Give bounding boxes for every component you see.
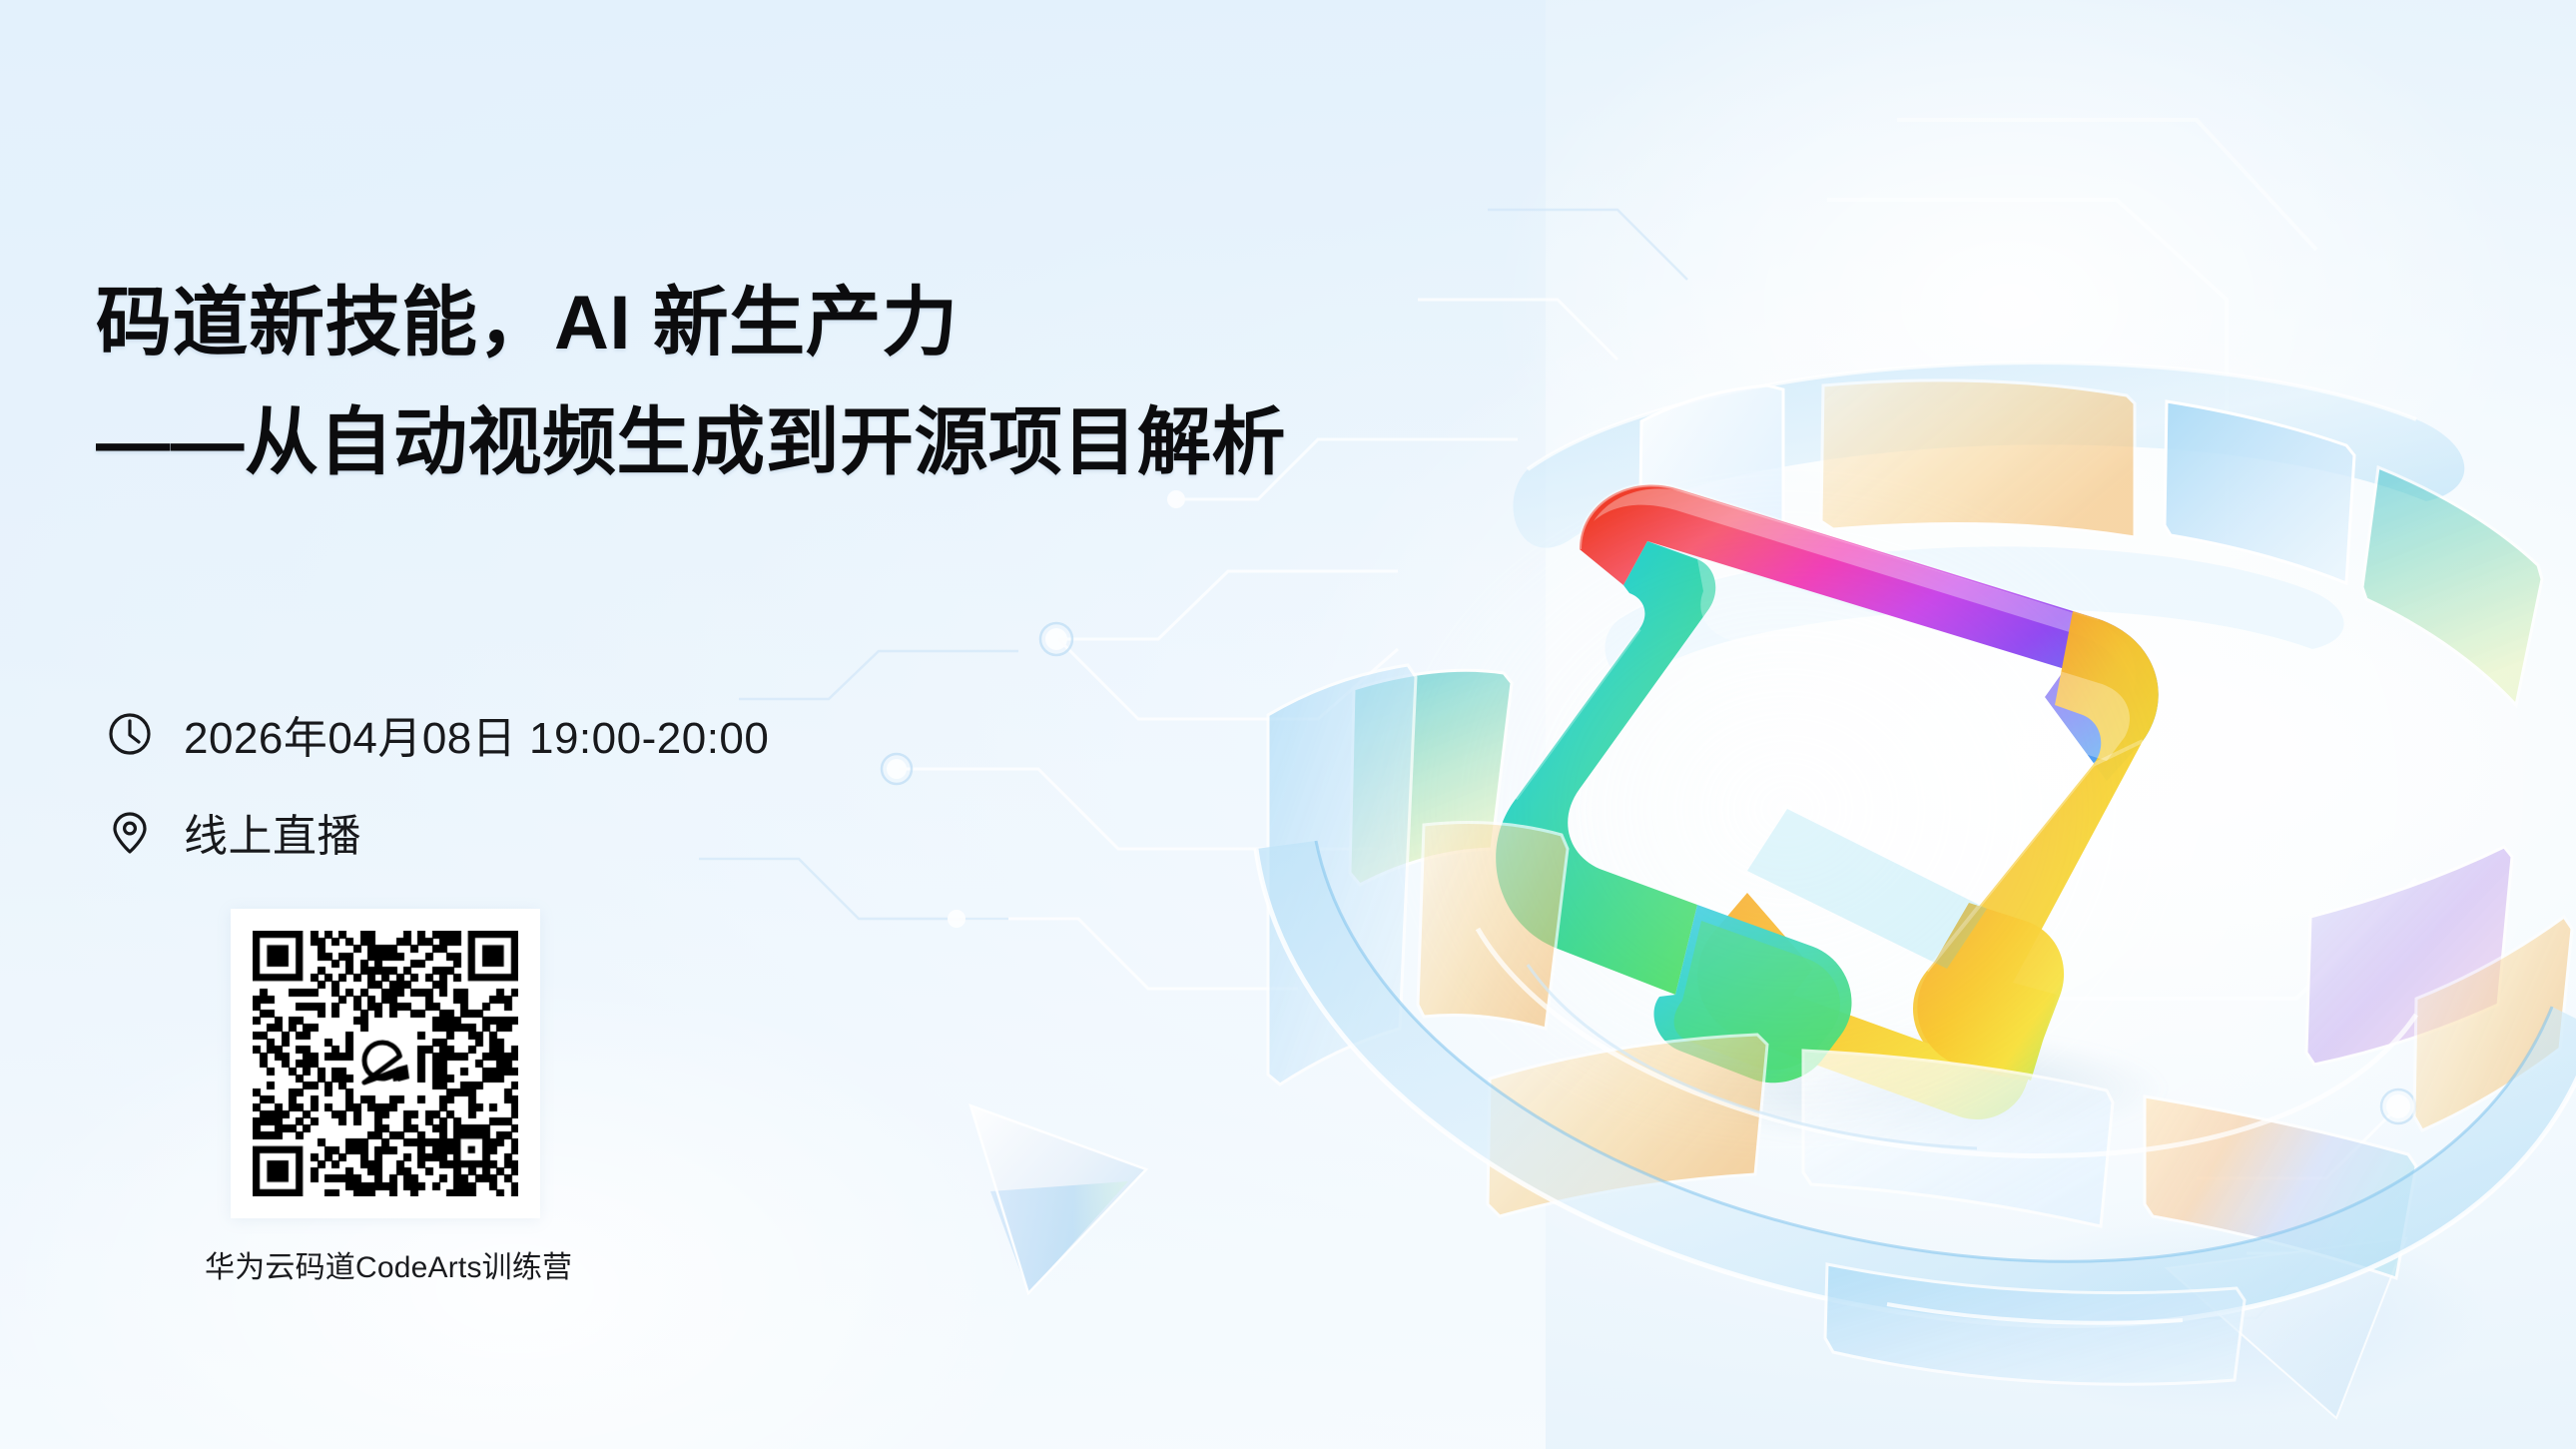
qr-block: 华为云码道CodeArts训练营 — [231, 909, 540, 1286]
location-text: 线上直播 — [184, 800, 361, 864]
location-pin-icon — [104, 806, 156, 858]
glass-shard-decoration — [2157, 1228, 2476, 1449]
title-line-2: ——从自动视频生成到开源项目解析 — [96, 405, 1286, 479]
location-row: 线上直播 — [104, 801, 769, 863]
qr-code[interactable] — [231, 909, 540, 1218]
meta-block: 2026年04月08日 19:00-20:00 线上直播 — [104, 703, 769, 863]
qr-caption: 华为云码道CodeArts训练营 — [205, 1242, 514, 1286]
datetime-row: 2026年04月08日 19:00-20:00 — [104, 703, 769, 765]
event-banner: 码道新技能，AI 新生产力 ——从自动视频生成到开源项目解析 2026年04月0… — [0, 0, 2576, 1449]
datetime-text: 2026年04月08日 19:00-20:00 — [184, 702, 769, 766]
content-column: 码道新技能，AI 新生产力 ——从自动视频生成到开源项目解析 2026年04月0… — [96, 0, 1274, 1449]
title-line-1: 码道新技能，AI 新生产力 — [96, 286, 1286, 362]
title-block: 码道新技能，AI 新生产力 ——从自动视频生成到开源项目解析 — [96, 286, 1286, 479]
clock-icon — [104, 708, 156, 760]
qr-canvas — [253, 931, 518, 1196]
